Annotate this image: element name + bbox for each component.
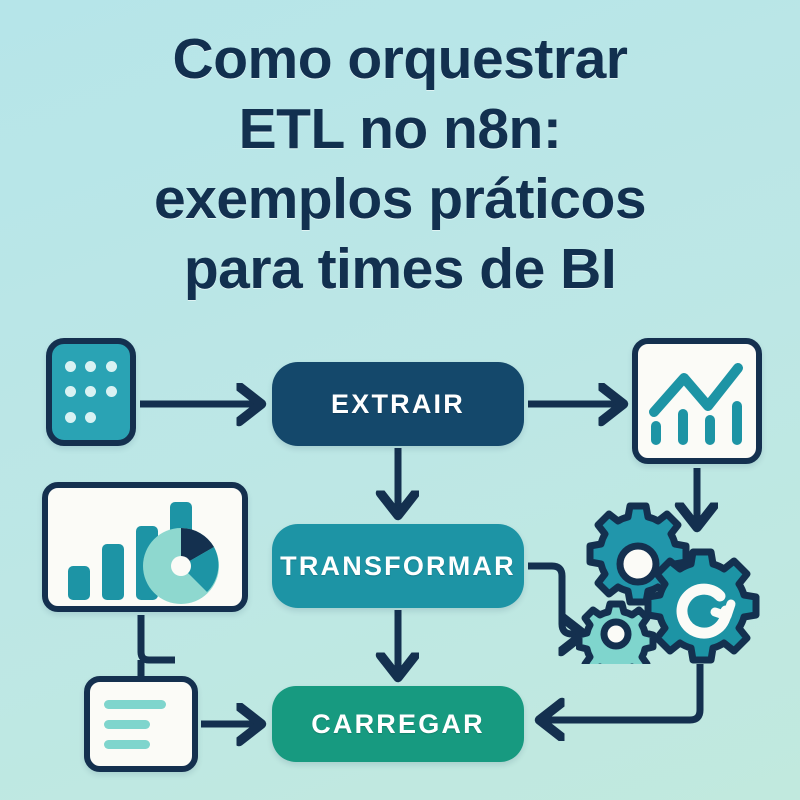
database-dot <box>65 412 76 423</box>
database-dot <box>106 386 117 397</box>
title-line-2: ETL no n8n: <box>0 94 800 164</box>
stage-transformar-label: TRANSFORMAR <box>280 551 516 582</box>
gears-glyph <box>576 500 762 664</box>
line-chart-icon <box>632 338 762 464</box>
document-line-2 <box>104 720 150 729</box>
line-chart-trend <box>654 368 738 412</box>
database-dot <box>85 386 96 397</box>
document-lines-glyph <box>90 682 192 766</box>
bar-pie-chart-glyph <box>48 488 242 606</box>
bar-2 <box>102 544 124 600</box>
gear-large <box>648 552 756 660</box>
stage-extrair-label: EXTRAIR <box>331 389 465 420</box>
database-grid-icon <box>46 338 136 446</box>
stage-transformar[interactable]: TRANSFORMAR <box>272 524 524 608</box>
document-line-3 <box>104 740 150 749</box>
document-line-1 <box>104 700 166 709</box>
database-dot <box>85 361 96 372</box>
connector-gears-to-load <box>543 664 700 720</box>
database-dot <box>65 386 76 397</box>
pie-chart <box>143 528 219 604</box>
bar-1 <box>68 566 90 600</box>
poster-canvas: Como orquestrar ETL no n8n: exemplos prá… <box>0 0 800 800</box>
database-dot <box>106 361 117 372</box>
database-dot-empty <box>106 412 117 423</box>
database-dot <box>65 361 76 372</box>
title-line-3: exemplos práticos <box>0 164 800 234</box>
connector-barchart-to-document <box>141 615 175 660</box>
bar-pie-chart-icon <box>42 482 248 612</box>
pie-hole <box>171 556 191 576</box>
stage-extrair[interactable]: EXTRAIR <box>272 362 524 446</box>
connector-transform-to-gears <box>528 566 580 634</box>
stage-carregar-label: CARREGAR <box>311 709 485 740</box>
gear-small <box>579 604 653 664</box>
title-line-4: para times de BI <box>0 234 800 304</box>
stage-carregar[interactable]: CARREGAR <box>272 686 524 762</box>
gears-icon <box>576 500 762 664</box>
title-line-1: Como orquestrar <box>0 24 800 94</box>
document-lines-icon <box>84 676 198 772</box>
line-chart-glyph <box>638 344 756 458</box>
database-dot <box>85 412 96 423</box>
page-title: Como orquestrar ETL no n8n: exemplos prá… <box>0 24 800 304</box>
